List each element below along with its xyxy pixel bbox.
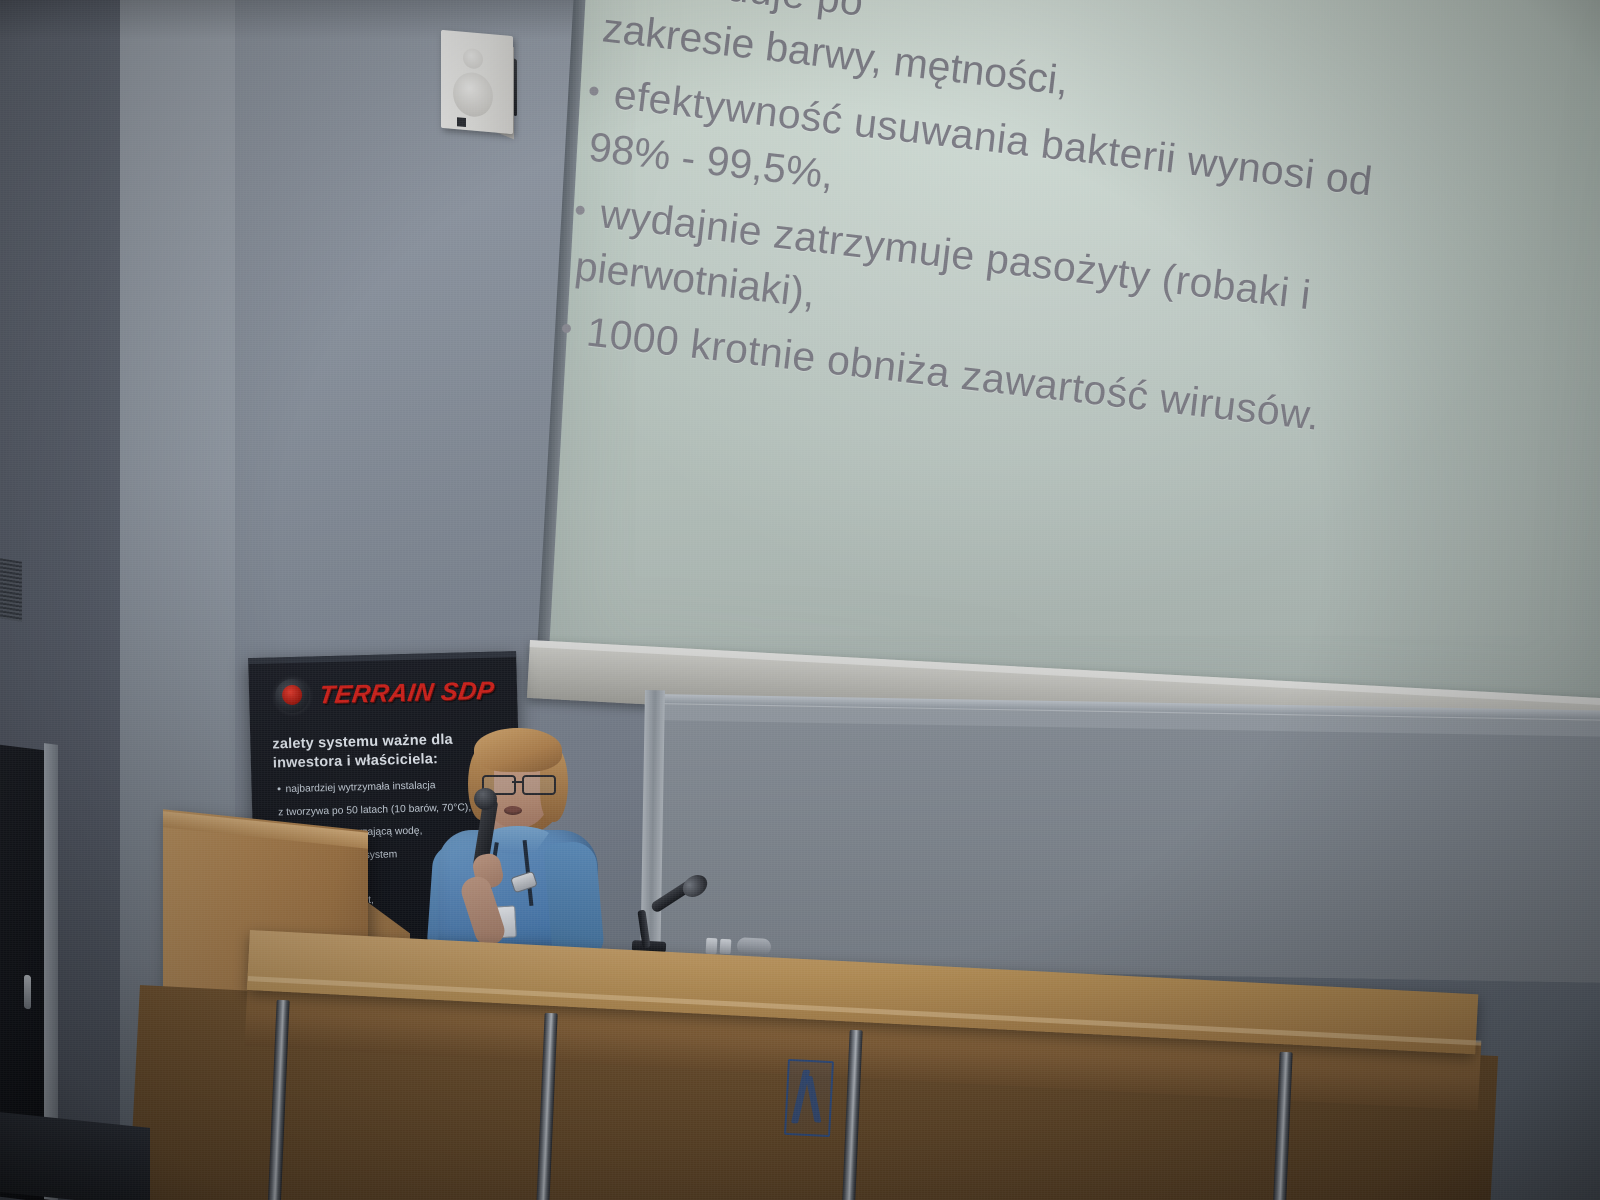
door-handle-icon[interactable] bbox=[24, 975, 31, 1010]
lecture-hall-photo: powoduje po zakresie barwy, mętności, ef… bbox=[0, 0, 1600, 1200]
banner-heading-line1: zalety systemu ważne dla bbox=[272, 732, 453, 753]
desk-small-object bbox=[720, 939, 732, 955]
desk-cylindrical-object bbox=[737, 937, 772, 956]
bullet-dot-icon bbox=[575, 205, 585, 215]
floor-area bbox=[0, 1112, 150, 1200]
speaker-led-icon bbox=[457, 117, 466, 127]
banner-bullet-0: najbardziej wytrzymała instalacja bbox=[285, 780, 435, 795]
bullet-dot-icon bbox=[561, 324, 571, 334]
glasses-lens-right bbox=[522, 775, 556, 795]
presenter-mouth bbox=[504, 806, 522, 815]
terrain-sdp-logo: TERRAIN SDP bbox=[275, 674, 494, 716]
desk-emblem-sticker bbox=[784, 1059, 834, 1137]
whiteboard bbox=[645, 700, 1600, 983]
wall-vent-grille-icon bbox=[0, 558, 22, 621]
desk-small-object bbox=[706, 938, 718, 955]
speaker-woofer-icon bbox=[453, 71, 493, 118]
whiteboard-surface bbox=[659, 720, 1600, 982]
presenter bbox=[430, 726, 600, 951]
speaker-tweeter-icon bbox=[463, 48, 483, 70]
banner-heading-line2: inwestora i właściciela: bbox=[273, 751, 439, 771]
bullet-dot-icon bbox=[589, 86, 599, 96]
banner-bullet-icon bbox=[278, 787, 281, 790]
wall-mounted-loudspeaker bbox=[441, 30, 513, 134]
glasses-icon bbox=[482, 775, 554, 791]
glasses-bridge bbox=[512, 781, 522, 783]
presenter-hair-front bbox=[474, 728, 562, 772]
presenter-right-arm bbox=[543, 840, 605, 960]
terrain-logo-mark-icon bbox=[275, 679, 310, 714]
terrain-logo-wordmark: TERRAIN SDP bbox=[317, 677, 496, 711]
